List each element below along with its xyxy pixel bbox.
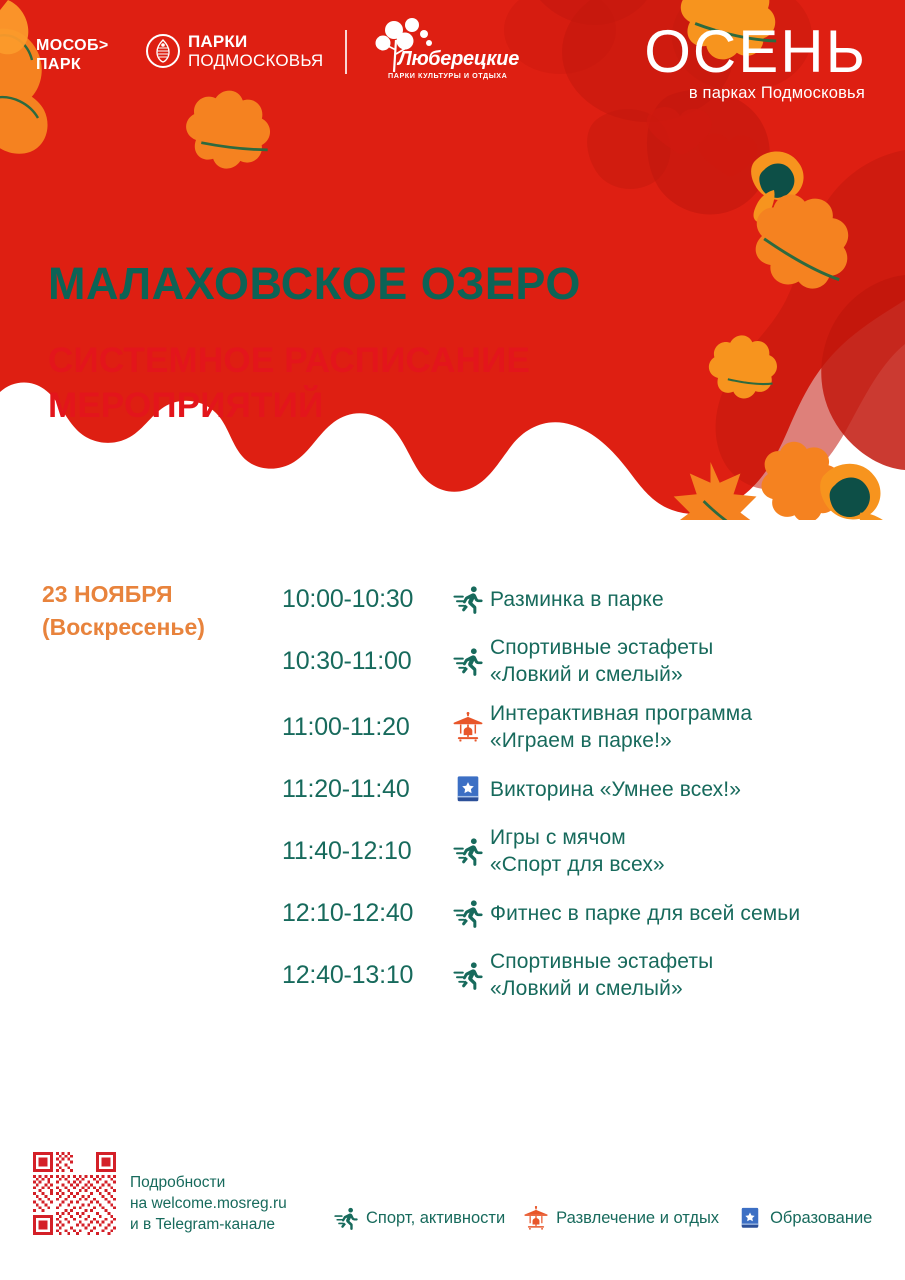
sport-running-icon xyxy=(453,836,483,866)
header-logos: МОСОБ> ПАРК ПАРКИ ПОДМОСКОВЬЯ xyxy=(0,0,905,120)
schedule-row-title: Викторина «Умнее всех!» xyxy=(490,776,741,803)
sport-running-icon xyxy=(453,646,483,676)
details-line-3[interactable]: и в Telegram-канале xyxy=(130,1214,287,1235)
schedule-row-title-line1: Спортивные эстафеты xyxy=(490,636,713,659)
schedule-row-category-icon xyxy=(446,584,490,614)
schedule-row-title: Фитнес в парке для всей семьи xyxy=(490,900,800,927)
schedule-row-category-icon xyxy=(446,960,490,990)
page-subtitle-line1: СИСТЕМНОЕ РАСПИСАНИЕ xyxy=(48,341,530,380)
details-line-2[interactable]: на welcome.mosreg.ru xyxy=(130,1193,287,1214)
schedule-row: 10:30-11:00 Спортивные эстафеты«Ловкий и… xyxy=(282,633,882,689)
book-icon xyxy=(738,1206,762,1230)
schedule-row: 11:40-12:10 Игры с мячом«Спорт для всех» xyxy=(282,823,882,879)
category-legend: Спорт, активности Развлечение и отдых Об… xyxy=(333,1205,872,1231)
schedule-row-category-icon xyxy=(446,646,490,676)
sport-running-icon xyxy=(334,1206,358,1230)
luberetskie-wordmark: Люберецкие xyxy=(398,49,519,69)
schedule-rows: 10:00-10:30 Разминка в парке10:30-11:00 … xyxy=(282,575,882,1003)
schedule-row-title-line1: Фитнес в парке для всей семьи xyxy=(490,902,800,925)
parki-podmoskovya-emblem-icon xyxy=(146,34,180,68)
schedule-row-title-line2: «Спорт для всех» xyxy=(490,851,665,878)
mosoblpark-line1: МОСОБ> xyxy=(36,37,109,54)
poster: МОСОБ> ПАРК ПАРКИ ПОДМОСКОВЬЯ xyxy=(0,0,905,1280)
schedule-row-title-line2: «Ловкий и смелый» xyxy=(490,975,713,1002)
schedule-date-day: 23 НОЯБРЯ xyxy=(42,581,173,607)
schedule-row-time: 11:00-11:20 xyxy=(282,713,446,742)
schedule-row-category-icon xyxy=(446,836,490,866)
curl-ornament-top xyxy=(751,152,803,223)
title-block: МАЛАХОВСКОЕ ОЗЕРО СИСТЕМНОЕ РАСПИСАНИЕ М… xyxy=(48,258,581,428)
parki-line1: ПАРКИ xyxy=(188,32,247,51)
osen-wordmark: ОСЕНЬ xyxy=(571,22,871,82)
schedule-date: 23 НОЯБРЯ (Воскресенье) xyxy=(42,578,272,644)
schedule-row-title: Разминка в парке xyxy=(490,586,664,613)
schedule-row-title-line1: Интерактивная программа xyxy=(490,702,752,725)
legend-item-icon xyxy=(333,1205,359,1231)
schedule-row: 12:40-13:10 Спортивные эстафеты«Ловкий и… xyxy=(282,947,882,1003)
book-icon xyxy=(453,774,483,804)
schedule-row-category-icon xyxy=(446,712,490,742)
schedule-row-category-icon xyxy=(446,898,490,928)
schedule-row-title-line1: Разминка в парке xyxy=(490,588,664,611)
curl-ornament-bottom xyxy=(820,464,892,520)
carousel-icon xyxy=(453,712,483,742)
legend-item-label: Спорт, активности xyxy=(366,1208,505,1228)
mosoblpark-line2: ПАРК xyxy=(36,55,109,74)
carousel-icon xyxy=(524,1206,548,1230)
legend-item-icon xyxy=(523,1205,549,1231)
schedule-section: 23 НОЯБРЯ (Воскресенье) 10:00-10:30 Разм… xyxy=(42,575,882,1013)
schedule-row-time: 10:00-10:30 xyxy=(282,585,446,614)
legend-item: Спорт, активности xyxy=(333,1205,505,1231)
schedule-row-title-line2: «Играем в парке!» xyxy=(490,727,752,754)
schedule-row-time: 12:10-12:40 xyxy=(282,899,446,928)
page-subtitle: СИСТЕМНОЕ РАСПИСАНИЕ МЕРОПРИЯТИЙ xyxy=(48,338,581,428)
qr-code-icon[interactable] xyxy=(33,1152,116,1235)
sport-running-icon xyxy=(453,898,483,928)
legend-item-icon xyxy=(737,1205,763,1231)
schedule-row-time: 10:30-11:00 xyxy=(282,647,446,676)
sport-running-icon xyxy=(453,960,483,990)
parki-podmoskovya-text: ПАРКИ ПОДМОСКОВЬЯ xyxy=(188,32,323,70)
schedule-row-time: 12:40-13:10 xyxy=(282,961,446,990)
parki-line2: ПОДМОСКОВЬЯ xyxy=(188,51,323,70)
details-text: Подробности на welcome.mosreg.ru и в Tel… xyxy=(130,1172,287,1235)
schedule-row-title-line2: «Ловкий и смелый» xyxy=(490,661,713,688)
parki-podmoskovya-logo[interactable]: ПАРКИ ПОДМОСКОВЬЯ xyxy=(146,32,323,70)
osen-logo: ОСЕНЬ в парках Подмосковья xyxy=(571,22,871,103)
schedule-row-time: 11:40-12:10 xyxy=(282,837,446,866)
legend-item: Образование xyxy=(737,1205,872,1231)
schedule-row-title-line1: Викторина «Умнее всех!» xyxy=(490,778,741,801)
page-title: МАЛАХОВСКОЕ ОЗЕРО xyxy=(48,258,581,310)
details-line-1: Подробности xyxy=(130,1172,287,1193)
sport-running-icon xyxy=(453,584,483,614)
schedule-row: 10:00-10:30 Разминка в парке xyxy=(282,575,882,623)
schedule-row-title: Спортивные эстафеты«Ловкий и смелый» xyxy=(490,948,713,1002)
schedule-row-title-line1: Игры с мячом xyxy=(490,826,626,849)
osen-subtitle: в парках Подмосковья xyxy=(571,84,871,103)
schedule-date-weekday: (Воскресенье) xyxy=(42,611,272,644)
schedule-row-category-icon xyxy=(446,774,490,804)
luberetskie-subtitle: ПАРКИ КУЛЬТУРЫ И ОТДЫХА xyxy=(388,71,507,80)
luberetskie-logo[interactable]: Люберецкие ПАРКИ КУЛЬТУРЫ И ОТДЫХА xyxy=(372,16,512,88)
schedule-row-title: Спортивные эстафеты«Ловкий и смелый» xyxy=(490,634,713,688)
mosoblpark-logo[interactable]: МОСОБ> ПАРК xyxy=(36,36,109,74)
logo-divider xyxy=(345,30,347,74)
schedule-row: 11:20-11:40 Викторина «Умнее всех!» xyxy=(282,765,882,813)
page-subtitle-line2: МЕРОПРИЯТИЙ xyxy=(48,383,581,428)
legend-item-label: Образование xyxy=(770,1208,872,1228)
schedule-row-time: 11:20-11:40 xyxy=(282,775,446,804)
legend-item: Развлечение и отдых xyxy=(523,1205,719,1231)
schedule-row: 11:00-11:20 Интерактивная программа«Игра… xyxy=(282,699,882,755)
schedule-row-title: Игры с мячом«Спорт для всех» xyxy=(490,824,665,878)
schedule-row-title: Интерактивная программа«Играем в парке!» xyxy=(490,700,752,754)
legend-item-label: Развлечение и отдых xyxy=(556,1208,719,1228)
schedule-row: 12:10-12:40 Фитнес в парке для всей семь… xyxy=(282,889,882,937)
schedule-row-title-line1: Спортивные эстафеты xyxy=(490,950,713,973)
